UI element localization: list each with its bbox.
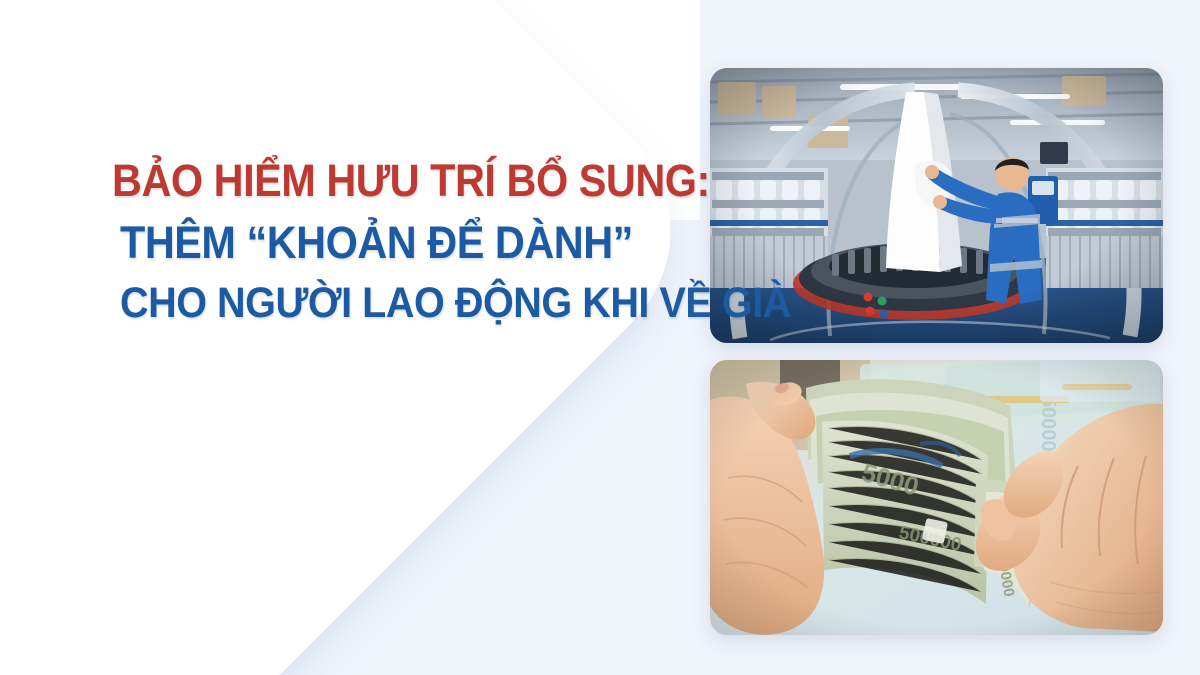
white-panel-left-fill <box>0 0 120 640</box>
counting-money-photo: 500000 500000 500000 <box>710 360 1163 635</box>
headline-line-1: BẢO HIỂM HƯU TRÍ BỔ SUNG: <box>112 158 664 203</box>
headline-block: BẢO HIỂM HƯU TRÍ BỔ SUNG: THÊM “KHOẢN ĐỂ… <box>112 158 712 325</box>
poster-canvas: BẢO HIỂM HƯU TRÍ BỔ SUNG: THÊM “KHOẢN ĐỂ… <box>0 0 1200 675</box>
headline-line-3: CHO NGƯỜI LAO ĐỘNG KHI VỀ GIÀ <box>120 282 665 325</box>
white-rounded-panel <box>0 0 724 675</box>
headline-line-2: THÊM “KHOẢN ĐỂ DÀNH” <box>120 220 665 265</box>
money-photo-illustration: 500000 500000 500000 <box>710 360 1163 635</box>
